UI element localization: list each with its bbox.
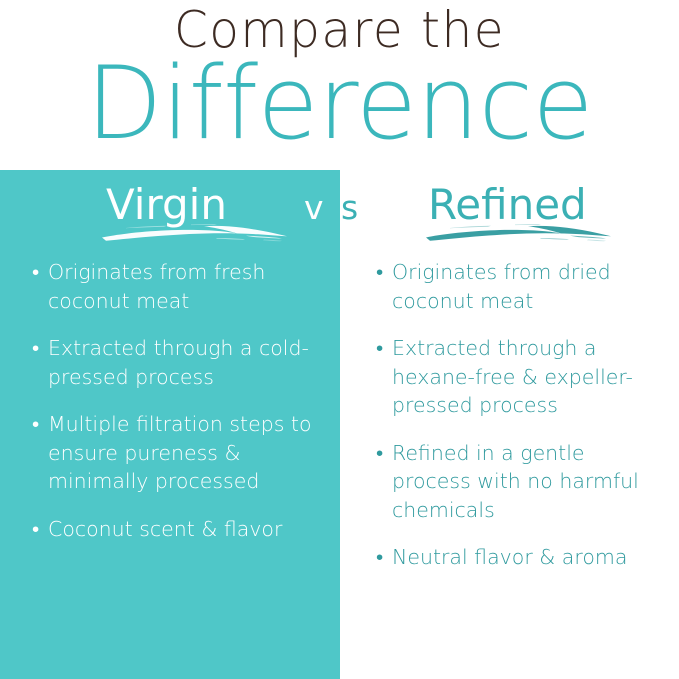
title-line-difference: Difference [7,50,672,156]
bullet-dot-icon: • [32,258,39,287]
bullet-dot-icon: • [32,515,39,544]
list-item: • Extracted through a hexane-free & expe… [376,334,668,420]
list-item: • Multiple filtration steps to ensure pu… [32,410,332,496]
bullet-dot-icon: • [376,439,383,468]
title-block: Compare the Difference [0,0,679,170]
bullet-dot-icon: • [32,334,39,363]
bullet-dot-icon: • [32,410,39,439]
list-item-text: Originates from dried coconut meat [392,258,668,315]
list-item: • Coconut scent & flavor [32,515,332,544]
list-item-text: Originates from fresh coconut meat [48,258,332,315]
list-item: • Originates from dried coconut meat [376,258,668,315]
list-item: • Originates from fresh coconut meat [32,258,332,315]
list-item-text: Extracted through a hexane-free & expell… [392,334,668,420]
list-item-text: Multiple filtration steps to ensure pure… [48,410,332,496]
vs-separator-right-half: s [341,190,358,226]
refined-bullet-list: • Originates from dried coconut meat • E… [376,258,668,591]
list-item-text: Coconut scent & flavor [48,515,332,544]
list-item-text: Refined in a gentle process with no harm… [392,439,668,525]
list-item: • Extracted through a cold-pressed proce… [32,334,332,391]
virgin-bullet-list: • Originates from fresh coconut meat • E… [32,258,332,562]
list-item-text: Extracted through a cold-pressed process [48,334,332,391]
list-item-text: Neutral flavor & aroma [392,543,668,572]
bullet-dot-icon: • [376,258,383,287]
brush-underline-refined-icon [420,222,620,246]
bullet-dot-icon: • [376,543,383,572]
list-item: • Refined in a gentle process with no ha… [376,439,668,525]
brush-underline-virgin-icon [96,222,296,246]
bullet-dot-icon: • [376,334,383,363]
vs-separator-left-half: v [304,190,324,226]
list-item: • Neutral flavor & aroma [376,543,668,572]
infographic-canvas: Compare the Difference Virgin v s Refine… [0,0,679,679]
